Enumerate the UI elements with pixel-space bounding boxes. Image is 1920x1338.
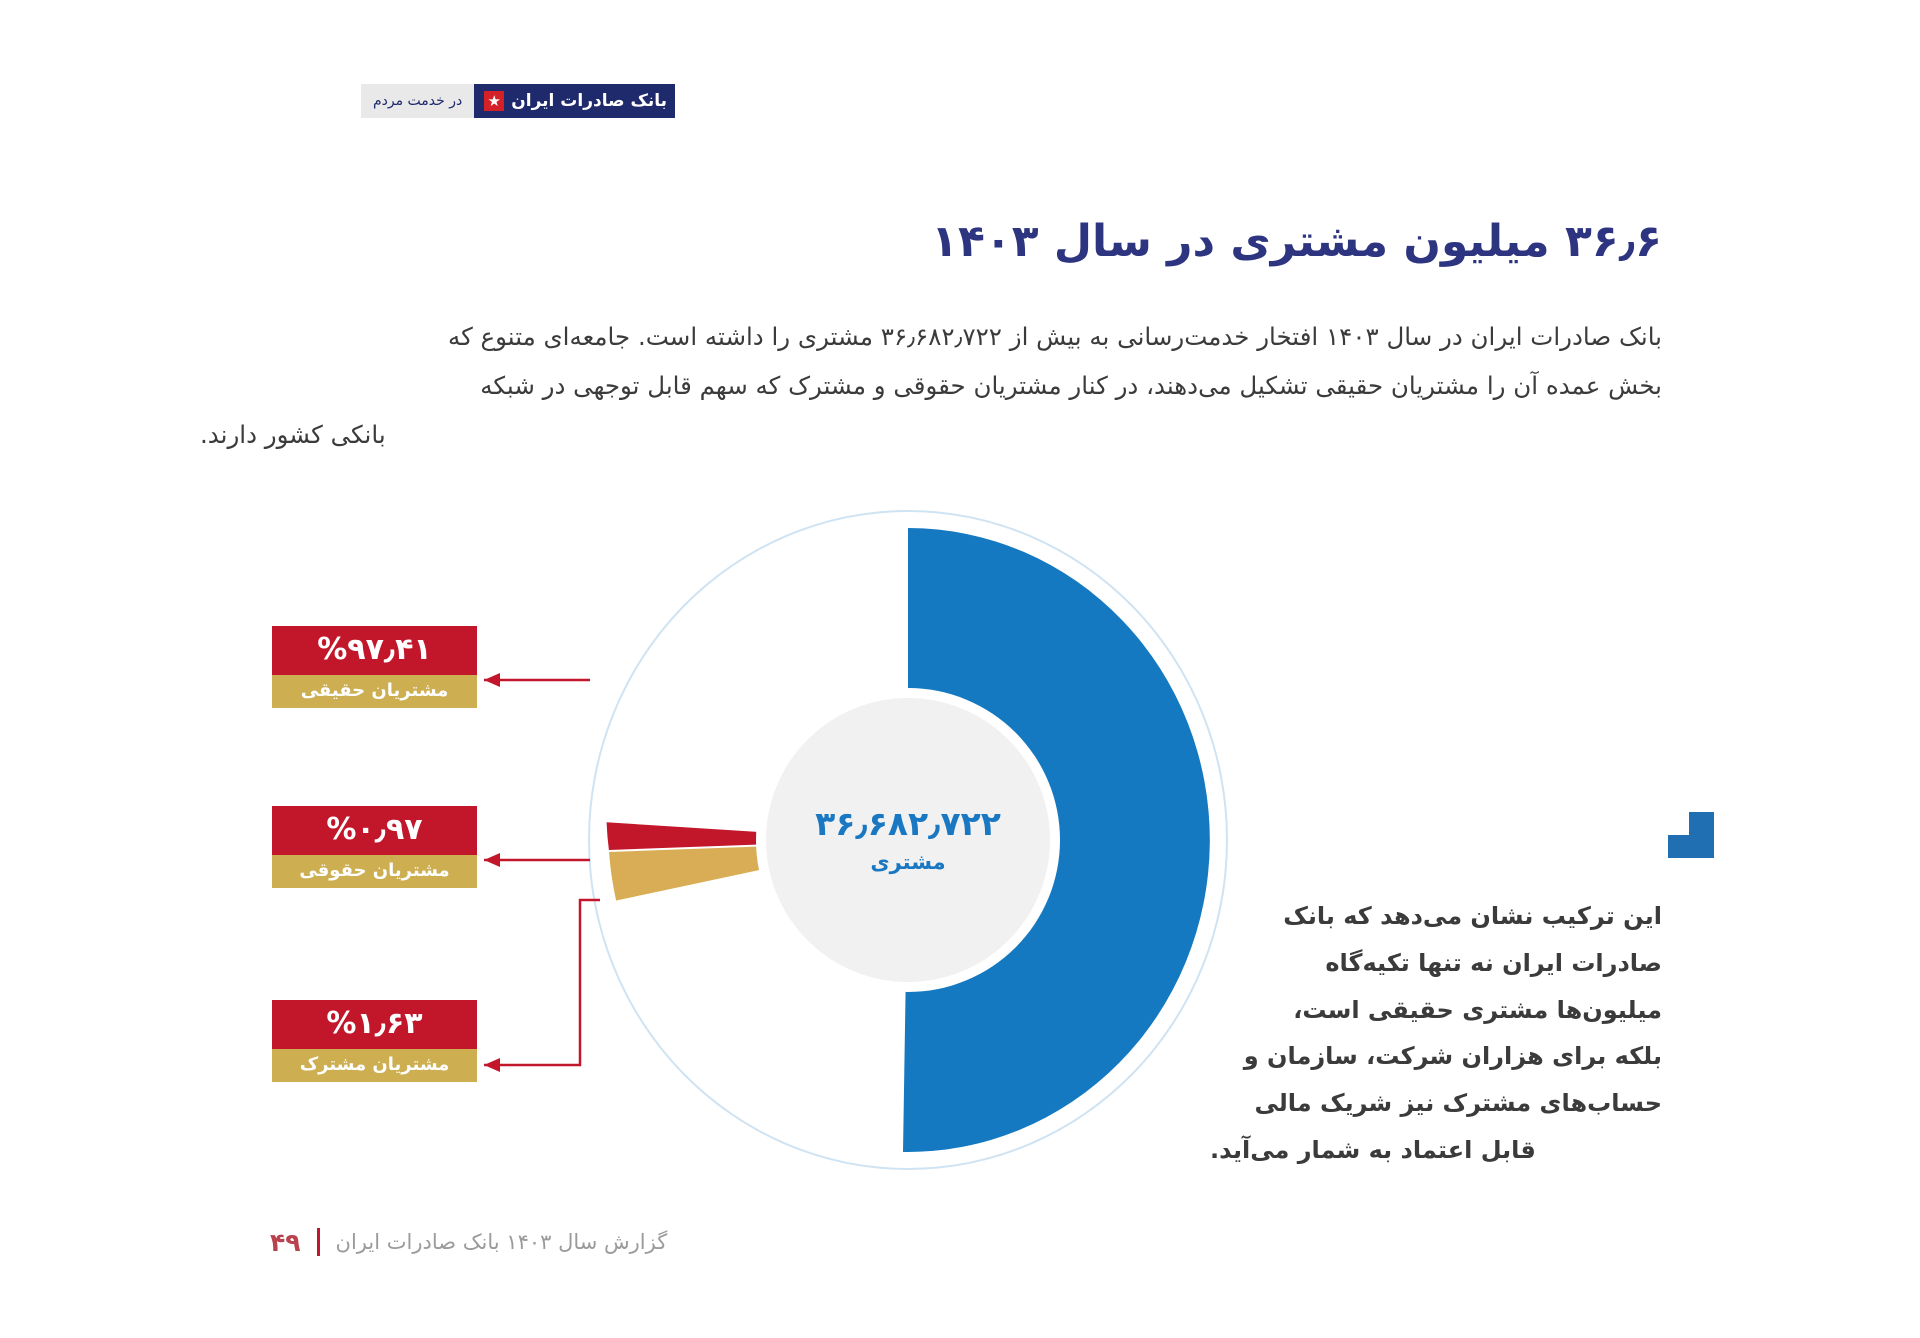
total-customers-label: مشتری bbox=[870, 852, 945, 873]
total-customers-value: ۳۶٫۶۸۲٫۷۲۲ bbox=[815, 807, 1001, 840]
donut-center: ۳۶٫۶۸۲٫۷۲۲ مشتری bbox=[766, 698, 1050, 982]
page-title: ۳۶٫۶ میلیون مشتری در سال ۱۴۰۳ bbox=[200, 216, 1662, 269]
page-footer: ۴۹ گزارش سال ۱۴۰۳ بانک صادرات ایران bbox=[270, 1228, 667, 1256]
logo-name: بانک صادرات ایران bbox=[511, 93, 667, 110]
logo-tagline: در خدمت مردم bbox=[361, 84, 474, 118]
commentary-line-4: بلکه برای هزاران شرکت، سازمان و bbox=[1210, 1033, 1662, 1080]
callout-value: %۱٫۶۳ bbox=[272, 1000, 477, 1049]
callout-real-customers: %۹۷٫۴۱ مشتریان حقیقی bbox=[272, 626, 477, 708]
commentary-line-5: حساب‌های مشترک نیز شریک مالی bbox=[1210, 1080, 1662, 1127]
logo-name-block: بانک صادرات ایران ★ bbox=[474, 84, 675, 118]
callout-category: مشتریان حقوقی bbox=[272, 855, 477, 888]
intro-line-2: بخش عمده آن را مشتریان حقیقی تشکیل می‌ده… bbox=[200, 361, 1662, 410]
callout-value: %۹۷٫۴۱ bbox=[272, 626, 477, 675]
star-icon: ★ bbox=[484, 91, 504, 111]
commentary-paragraph: این ترکیب نشان می‌دهد که بانک صادرات ایر… bbox=[1210, 893, 1662, 1174]
commentary-line-1: این ترکیب نشان می‌دهد که بانک bbox=[1210, 893, 1662, 940]
page-number: ۴۹ bbox=[270, 1230, 301, 1255]
commentary-line-6: قابل اعتماد به شمار می‌آید. bbox=[1210, 1127, 1662, 1174]
commentary-line-3: میلیون‌ها مشتری حقیقی است، bbox=[1210, 987, 1662, 1034]
bank-logo: بانک صادرات ایران ★ در خدمت مردم bbox=[361, 84, 675, 118]
quote-mark-icon bbox=[1668, 812, 1718, 858]
footer-divider bbox=[317, 1228, 320, 1256]
intro-paragraph: بانک صادرات ایران در سال ۱۴۰۳ افتخار خدم… bbox=[200, 312, 1662, 459]
commentary-line-2: صادرات ایران نه تنها تکیه‌گاه bbox=[1210, 940, 1662, 987]
callout-value: %۰٫۹۷ bbox=[272, 806, 477, 855]
intro-line-1: بانک صادرات ایران در سال ۱۴۰۳ افتخار خدم… bbox=[200, 312, 1662, 361]
footer-text: گزارش سال ۱۴۰۳ بانک صادرات ایران bbox=[336, 1232, 668, 1253]
callout-joint-customers: %۱٫۶۳ مشتریان مشترک bbox=[272, 1000, 477, 1082]
intro-line-3: بانکی کشور دارند. bbox=[200, 410, 1662, 459]
callout-legal-customers: %۰٫۹۷ مشتریان حقوقی bbox=[272, 806, 477, 888]
customer-composition-donut-chart: ۳۶٫۶۸۲٫۷۲۲ مشتری bbox=[588, 510, 1228, 1170]
callout-category: مشتریان حقیقی bbox=[272, 675, 477, 708]
report-page: بانک صادرات ایران ★ در خدمت مردم ۳۶٫۶ می… bbox=[0, 0, 1920, 1338]
callout-category: مشتریان مشترک bbox=[272, 1049, 477, 1082]
